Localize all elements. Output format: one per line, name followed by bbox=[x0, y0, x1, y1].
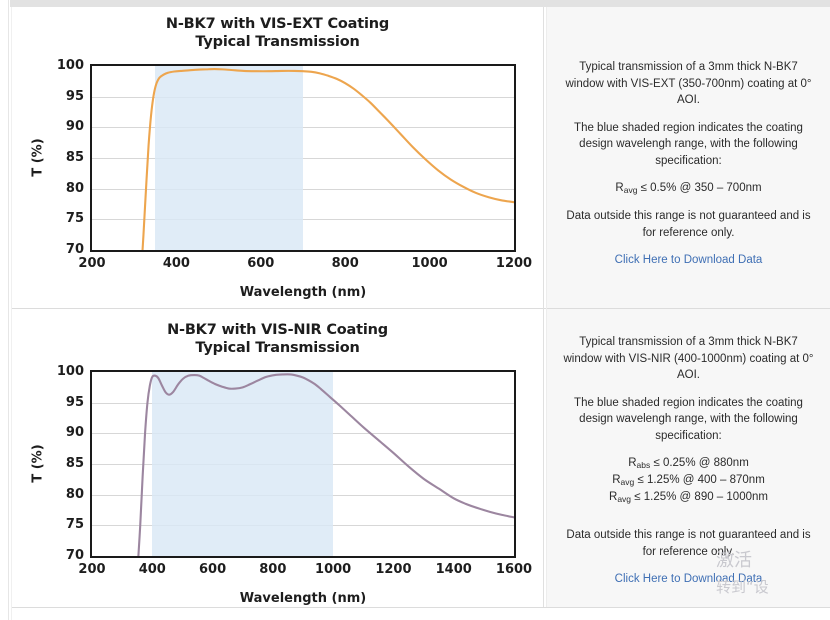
spec-subscript: avg bbox=[617, 494, 631, 504]
plot-frame-vis-ext bbox=[90, 64, 516, 252]
spec-subscript: abs bbox=[637, 460, 651, 470]
y-axis-tick-label: 100 bbox=[44, 58, 84, 73]
y-axis-tick-label: 95 bbox=[44, 395, 84, 410]
y-axis-tick-label: 95 bbox=[44, 89, 84, 104]
spec-subscript: avg bbox=[621, 477, 635, 487]
x-axis-tick-label: 400 bbox=[146, 256, 206, 271]
data-curve bbox=[138, 374, 514, 556]
x-axis-tick-label: 200 bbox=[62, 562, 122, 577]
plot-area-vis-nir bbox=[90, 370, 516, 558]
info-panel-vis-ext: Typical transmission of a 3mm thick N-BK… bbox=[547, 7, 830, 308]
x-axis-tick-label: 600 bbox=[183, 562, 243, 577]
spec-symbol: R bbox=[628, 457, 636, 469]
x-axis-tick-label: 400 bbox=[122, 562, 182, 577]
curve-layer bbox=[92, 66, 514, 250]
spec-row: Ravg ≤ 1.25% @ 890 – 1000nm bbox=[559, 489, 818, 506]
spec-list-vis-ext: Ravg ≤ 0.5% @ 350 – 700nm bbox=[559, 180, 818, 197]
spec-row: Ravg ≤ 1.25% @ 400 – 870nm bbox=[559, 472, 818, 489]
chart-title-line1: N-BK7 with VIS-NIR Coating bbox=[167, 322, 388, 338]
spec-text: ≤ 0.25% @ 880nm bbox=[653, 457, 748, 469]
download-data-link-vis-nir[interactable]: Click Here to Download Data bbox=[615, 571, 763, 588]
y-axis-tick-label: 90 bbox=[44, 119, 84, 134]
info-panel-vis-nir: Typical transmission of a 3mm thick N-BK… bbox=[547, 309, 830, 607]
spec-subscript: avg bbox=[624, 185, 638, 195]
disclaimer-vis-nir: Data outside this range is not guarantee… bbox=[559, 527, 818, 560]
shaded-note-vis-nir: The blue shaded region indicates the coa… bbox=[559, 395, 818, 445]
disclaimer-vis-ext: Data outside this range is not guarantee… bbox=[559, 208, 818, 241]
description-vis-nir: Typical transmission of a 3mm thick N-BK… bbox=[559, 334, 818, 384]
spec-text: ≤ 0.5% @ 350 – 700nm bbox=[641, 182, 762, 194]
spec-row: Ravg ≤ 0.5% @ 350 – 700nm bbox=[559, 180, 818, 197]
y-axis-tick-label: 70 bbox=[44, 242, 84, 257]
spec-row: Rabs ≤ 0.25% @ 880nm bbox=[559, 455, 818, 472]
chart-title-vis-nir: N-BK7 with VIS-NIR Coating Typical Trans… bbox=[12, 321, 543, 357]
x-axis-tick-label: 1400 bbox=[424, 562, 484, 577]
chart-title-line2: Typical Transmission bbox=[12, 33, 543, 51]
left-edge-rule bbox=[8, 0, 9, 620]
x-axis-tick-label: 600 bbox=[231, 256, 291, 271]
y-axis-tick-label: 80 bbox=[44, 181, 84, 196]
x-axis-tick-label: 1200 bbox=[363, 562, 423, 577]
shaded-note-vis-ext: The blue shaded region indicates the coa… bbox=[559, 120, 818, 170]
chart-title-vis-ext: N-BK7 with VIS-EXT Coating Typical Trans… bbox=[12, 15, 543, 51]
plot-area-vis-ext bbox=[90, 64, 516, 252]
y-axis-tick-label: 75 bbox=[44, 211, 84, 226]
x-axis-tick-label: 1200 bbox=[484, 256, 544, 271]
x-axis-tick-label: 200 bbox=[62, 256, 122, 271]
y-axis-tick-label: 70 bbox=[44, 548, 84, 563]
y-axis-tick-label: 80 bbox=[44, 487, 84, 502]
curve-layer bbox=[92, 372, 514, 556]
top-gray-band bbox=[10, 0, 830, 7]
chart-title-line2: Typical Transmission bbox=[12, 339, 543, 357]
download-data-link-vis-ext[interactable]: Click Here to Download Data bbox=[615, 252, 763, 269]
x-axis-tick-label: 1000 bbox=[400, 256, 460, 271]
description-vis-ext: Typical transmission of a 3mm thick N-BK… bbox=[559, 59, 818, 109]
spec-text: ≤ 1.25% @ 890 – 1000nm bbox=[634, 491, 768, 503]
y-axis-tick-label: 85 bbox=[44, 456, 84, 471]
chart-title-line1: N-BK7 with VIS-EXT Coating bbox=[166, 16, 389, 32]
x-axis-tick-label: 1000 bbox=[303, 562, 363, 577]
y-axis-tick-label: 90 bbox=[44, 425, 84, 440]
row-separator-bottom bbox=[12, 607, 830, 608]
plot-frame-vis-nir bbox=[90, 370, 516, 558]
x-axis-tick-label: 800 bbox=[315, 256, 375, 271]
x-axis-tick-label: 800 bbox=[243, 562, 303, 577]
spec-list-vis-nir: Rabs ≤ 0.25% @ 880nm Ravg ≤ 1.25% @ 400 … bbox=[559, 455, 818, 506]
y-axis-tick-label: 85 bbox=[44, 150, 84, 165]
chart-cell-vis-ext: N-BK7 with VIS-EXT Coating Typical Trans… bbox=[12, 7, 543, 308]
x-axis-label-vis-nir: Wavelength (nm) bbox=[90, 591, 516, 606]
chart-cell-vis-nir: N-BK7 with VIS-NIR Coating Typical Trans… bbox=[12, 309, 543, 607]
x-axis-tick-label: 1600 bbox=[484, 562, 544, 577]
spec-text: ≤ 1.25% @ 400 – 870nm bbox=[637, 474, 764, 486]
column-separator-outer bbox=[543, 7, 544, 607]
spec-symbol: R bbox=[612, 474, 620, 486]
data-curve bbox=[142, 69, 514, 250]
spec-symbol: R bbox=[615, 182, 623, 194]
y-axis-tick-label: 75 bbox=[44, 517, 84, 532]
x-axis-label-vis-ext: Wavelength (nm) bbox=[90, 285, 516, 300]
y-axis-tick-label: 100 bbox=[44, 364, 84, 379]
page-root: N-BK7 with VIS-EXT Coating Typical Trans… bbox=[0, 0, 830, 620]
